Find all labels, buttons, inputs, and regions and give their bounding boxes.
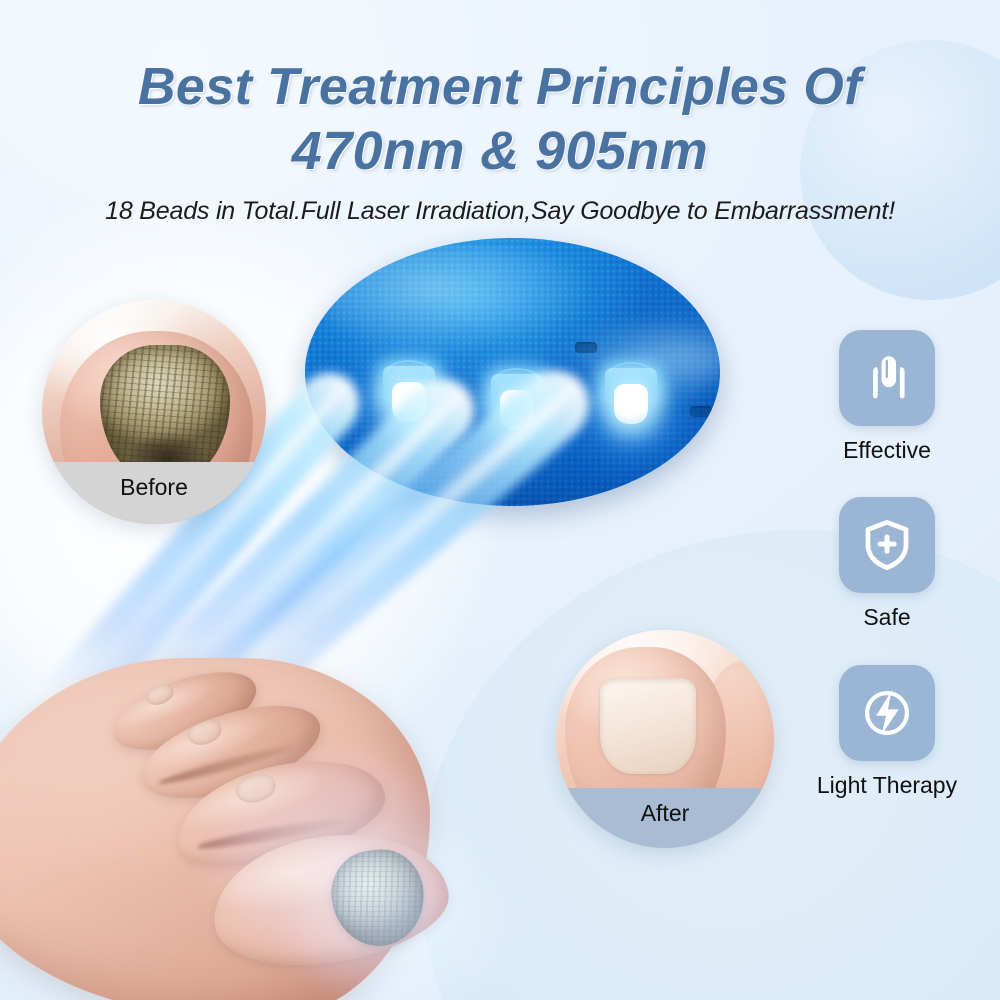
bead-lens [392,382,426,422]
laser-bead-3 [605,368,657,428]
foot-treatment-photo [0,600,520,1000]
feature-label-light-therapy: Light Therapy [817,773,957,798]
device-highlight [322,243,596,356]
page-subtitle: 18 Beads in Total.Full Laser Irradiation… [0,196,1000,226]
lightning-bolt-icon [858,684,916,742]
nail-icon [858,349,916,407]
after-photo-card: After [556,630,774,848]
before-label: Before [42,462,266,524]
promo-image-canvas: Best Treatment Principles Of 470nm & 905… [0,0,1000,1000]
feature-tile-light-therapy [839,665,935,761]
bead-lens [500,390,534,430]
beam-light-wash-lower [290,830,510,1000]
feature-tile-safe [839,497,935,593]
feature-label-safe: Safe [863,605,910,630]
before-photo-card: Before [42,300,266,524]
shield-plus-icon [858,516,916,574]
page-title-line-2: 470nm & 905nm [0,122,1000,180]
after-label: After [556,788,774,848]
laser-bead-2 [491,374,543,434]
feature-list: Effective Safe Light Therapy [792,330,982,798]
feature-tile-effective [839,330,935,426]
device-body [305,238,720,506]
after-healthy-nail [600,678,696,774]
laser-device-group [305,238,720,506]
feature-effective: Effective [839,330,935,463]
feature-label-effective: Effective [843,438,931,463]
laser-bead-1 [383,366,435,426]
device-port-right [690,406,712,417]
header-block: Best Treatment Principles Of 470nm & 905… [0,58,1000,226]
feature-light-therapy: Light Therapy [817,665,957,798]
device-port-top [575,342,597,353]
bead-lens [614,384,648,424]
feature-safe: Safe [839,497,935,630]
page-title-line-1: Best Treatment Principles Of [0,58,1000,116]
